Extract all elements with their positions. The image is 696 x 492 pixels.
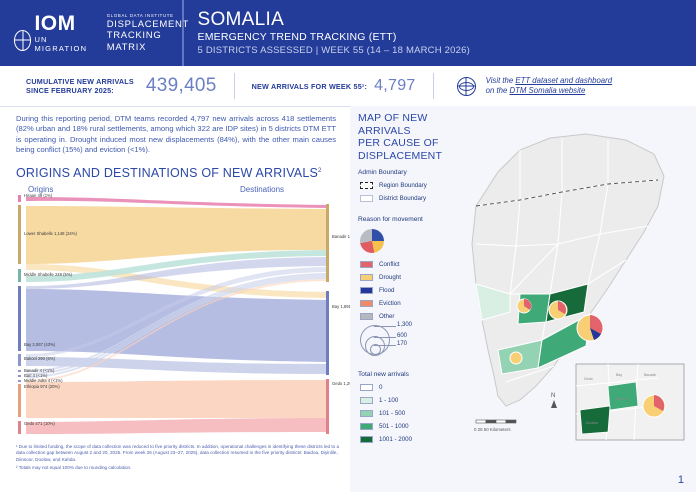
origin-label-hiraan: Hiraan 49 (1%) [24,193,52,198]
origin-label-gedo: Gedo 471 (10%) [24,421,55,426]
map-pie-marker [510,352,522,364]
kpi-cumulative-label-line2: SINCE FEBRUARY 2025: [26,86,134,95]
legend-total-0: 0 [360,384,382,391]
map-title-line4: DISPLACEMENT [358,150,468,163]
legend-label: 101 - 500 [379,410,405,417]
conflict-swatch [360,261,373,268]
total-swatch-4 [360,436,373,443]
legend-label: Conflict [379,261,400,268]
legend-region-boundary: Region Boundary [360,182,427,189]
legend-label: District Boundary [379,195,426,202]
dtm-logo: GLOBAL DATA INSTITUTE DISPLACEMENT TRACK… [107,13,189,54]
sankey-destination-node: Gedo 1,294 (27%) [326,379,338,434]
node-bar [18,421,21,434]
origin-label-middle-shabelle: Middle Shabelle 249 (5%) [24,272,72,277]
ett-dataset-link[interactable]: ETT dataset and dashboard [515,76,612,85]
legend-label: Region Boundary [379,182,427,189]
visit-line1-prefix: Visit the [486,76,516,85]
map-svg[interactable]: Gedo Bay Banadir Doolow Baidoa N 0 25 50… [458,114,690,444]
map-title-line3: PER CAUSE OF [358,137,468,150]
map-pie-marker [577,315,603,341]
sankey-origin-node: Bay 2,067 (43%) [18,286,178,351]
kpi-cumulative-value: 439,405 [146,75,217,97]
svg-text:Baidoa: Baidoa [616,397,627,401]
header-divider [182,0,184,66]
footnote-1: ¹ Due to limited funding, the scope of d… [16,444,346,463]
admin-boundary-heading: Admin Boundary [358,169,407,176]
footnote-2: ² Totals may not equal 100% due to round… [16,465,346,471]
dtm-line1: DISPLACEMENT [107,19,189,31]
dtm-somalia-link[interactable]: DTM Somalia website [509,86,585,95]
total-swatch-1 [360,397,373,404]
svg-text:Gedo: Gedo [584,377,593,381]
bubble-leader-3 [374,345,396,346]
map-title-line2: ARRIVALS [358,125,468,138]
iom-dtm-logo: IOM UN MIGRATION GLOBAL DATA INSTITUTE D… [0,13,182,54]
sankey-origin-node: Gedo 471 (10%) [18,421,178,434]
node-bar [326,204,329,282]
reason-heading: Reason for movement [358,216,423,223]
svg-text:Bay: Bay [616,373,622,377]
iom-wordmark: IOM [34,14,90,34]
svg-text:Doolow: Doolow [586,421,598,425]
total-swatch-3 [360,423,373,430]
bubble-label-170: 170 [397,341,407,347]
sankey-title-text: ORIGINS AND DESTINATIONS OF NEW ARRIVALS [16,166,318,180]
sankey-title-sup: 2 [318,168,322,174]
legend-district-boundary: District Boundary [360,195,426,202]
node-bar [18,384,21,417]
destinations-label: Destinations [240,185,284,194]
map-title: MAP OF NEW ARRIVALS PER CAUSE OF DISPLAC… [358,112,468,162]
legend-drought: Drought [360,274,401,281]
other-swatch [360,313,373,320]
kpi-cumulative: CUMULATIVE NEW ARRIVALS SINCE FEBRUARY 2… [0,75,217,97]
reason-pie-sample-icon [360,229,384,253]
legend-label: 1001 - 2000 [379,436,412,443]
flood-swatch [360,287,373,294]
svg-text:Banadir: Banadir [644,373,657,377]
legend-label: Eviction [379,300,401,307]
origin-label-middle-juba: Middle Juba 4 (<1%) [24,378,63,383]
node-bar [18,286,21,351]
legend-other: Other [360,313,394,320]
kpi-divider-2 [433,73,434,99]
node-bar [326,379,329,434]
node-bar [18,370,21,372]
sankey-origin-node: Middle Juba 4 (<1%) [18,380,178,382]
eviction-swatch [360,300,373,307]
legend-label: Drought [379,274,401,281]
bubble-leader-2 [374,337,396,338]
kpi-week: NEW ARRIVALS FOR WEEK 55¹: 4,797 [252,77,416,95]
country-title: SOMALIA [198,9,470,30]
intro-paragraph: During this reporting period, DTM teams … [16,114,336,156]
node-bar [18,380,21,382]
drought-swatch [360,274,373,281]
iom-tagline: UN MIGRATION [34,35,90,53]
node-bar [326,291,329,375]
footnotes: ¹ Due to limited funding, the scope of d… [16,444,346,474]
node-bar [18,354,21,366]
visit-line2-prefix: on the [486,86,510,95]
legend-label: 0 [379,384,382,391]
iom-logo: IOM UN MIGRATION [14,14,91,53]
origin-label-ethiopia: Ethiopia 974 (20%) [24,384,60,389]
week-subtitle: 5 DISTRICTS ASSESSED | WEEK 55 (14 – 18 … [198,44,470,58]
kpi-week-value: 4,797 [374,77,416,95]
kpi-bar: CUMULATIVE NEW ARRIVALS SINCE FEBRUARY 2… [0,66,696,107]
kpi-cumulative-label-line1: CUMULATIVE NEW ARRIVALS [26,77,134,86]
map-pie-marker [517,299,531,313]
legend-total-1-100: 1 - 100 [360,397,398,404]
node-bar [18,205,21,264]
kpi-week-label: NEW ARRIVALS FOR WEEK 55¹: [252,82,367,91]
node-bar [18,195,21,202]
map-pie-marker [549,301,567,319]
somalia-map[interactable]: Gedo Bay Banadir Doolow Baidoa N 0 25 50… [458,114,690,444]
region-boundary-icon [360,182,373,189]
north-arrow-icon: N [551,393,557,408]
origin-label-lower-shabelle: Lower Shabelle 1,148 (24%) [24,231,77,236]
globe-icon [14,30,31,51]
legend-label: 501 - 1000 [379,423,409,430]
page-header: IOM UN MIGRATION GLOBAL DATA INSTITUTE D… [0,0,696,66]
sankey-destination-node: Bay 1,891 (39%) [326,291,338,375]
origin-label-bakool: Bakool 290 (6%) [24,356,55,361]
sankey-origin-node: Hiraan 49 (1%) [18,195,178,202]
dtm-line2: TRACKING MATRIX [107,30,189,53]
legend-total-101-500: 101 - 500 [360,410,405,417]
sankey-origin-node: Bakool 290 (6%) [18,354,178,366]
sankey-destination-node: Banadir 1,613 (34%) [326,204,338,282]
sankey-diagram: Hiraan 49 (1%) Lower Shabelle 1,148 (24%… [18,194,338,434]
sankey-section-title: ORIGINS AND DESTINATIONS OF NEW ARRIVALS… [16,166,322,180]
legend-total-501-1000: 501 - 1000 [360,423,409,430]
bubble-label-600: 600 [397,333,407,339]
legend-flood: Flood [360,287,394,294]
globe-web-icon [457,77,476,96]
legend-total-1001-2000: 1001 - 2000 [360,436,412,443]
total-swatch-0 [360,384,373,391]
map-panel: MAP OF NEW ARRIVALS PER CAUSE OF DISPLAC… [350,106,696,492]
sankey-origin-node: Lower Shabelle 1,148 (24%) [18,205,178,264]
sankey-origin-node: Bari 4 (<1%) [18,375,178,377]
total-arrivals-heading: Total new arrivals [358,371,409,378]
svg-text:N: N [551,393,555,399]
node-bar [18,375,21,377]
visit-links[interactable]: Visit the ETT dataset and dashboard on t… [457,76,612,96]
district-boundary-icon [360,195,373,202]
header-titles: SOMALIA EMERGENCY TREND TRACKING (ETT) 5… [184,9,470,58]
kpi-divider-1 [234,73,235,99]
sankey-origin-node: Banadir 4 (<1%) [18,370,178,372]
left-column: During this reporting period, DTM teams … [0,106,350,492]
scale-bar: 0 25 50 Kilometers [474,420,516,432]
total-swatch-2 [360,410,373,417]
bubble-leader-1 [374,326,396,327]
page-number: 1 [678,474,684,486]
bubble-label-1300: 1,300 [397,322,412,328]
legend-label: Other [379,313,394,320]
sankey-origin-node: Middle Shabelle 249 (5%) [18,269,178,282]
node-bar [18,269,21,282]
map-title-line1: MAP OF NEW [358,112,468,125]
programme-title: EMERGENCY TREND TRACKING (ETT) [198,30,470,44]
origin-label-bay: Bay 2,067 (43%) [24,342,55,347]
legend-eviction: Eviction [360,300,401,307]
scale-bar-label: 0 25 50 Kilometers [474,427,511,432]
legend-label: Flood [379,287,394,294]
legend-conflict: Conflict [360,261,400,268]
sankey-origin-node: Ethiopia 974 (20%) [18,384,178,417]
legend-label: 1 - 100 [379,397,398,404]
